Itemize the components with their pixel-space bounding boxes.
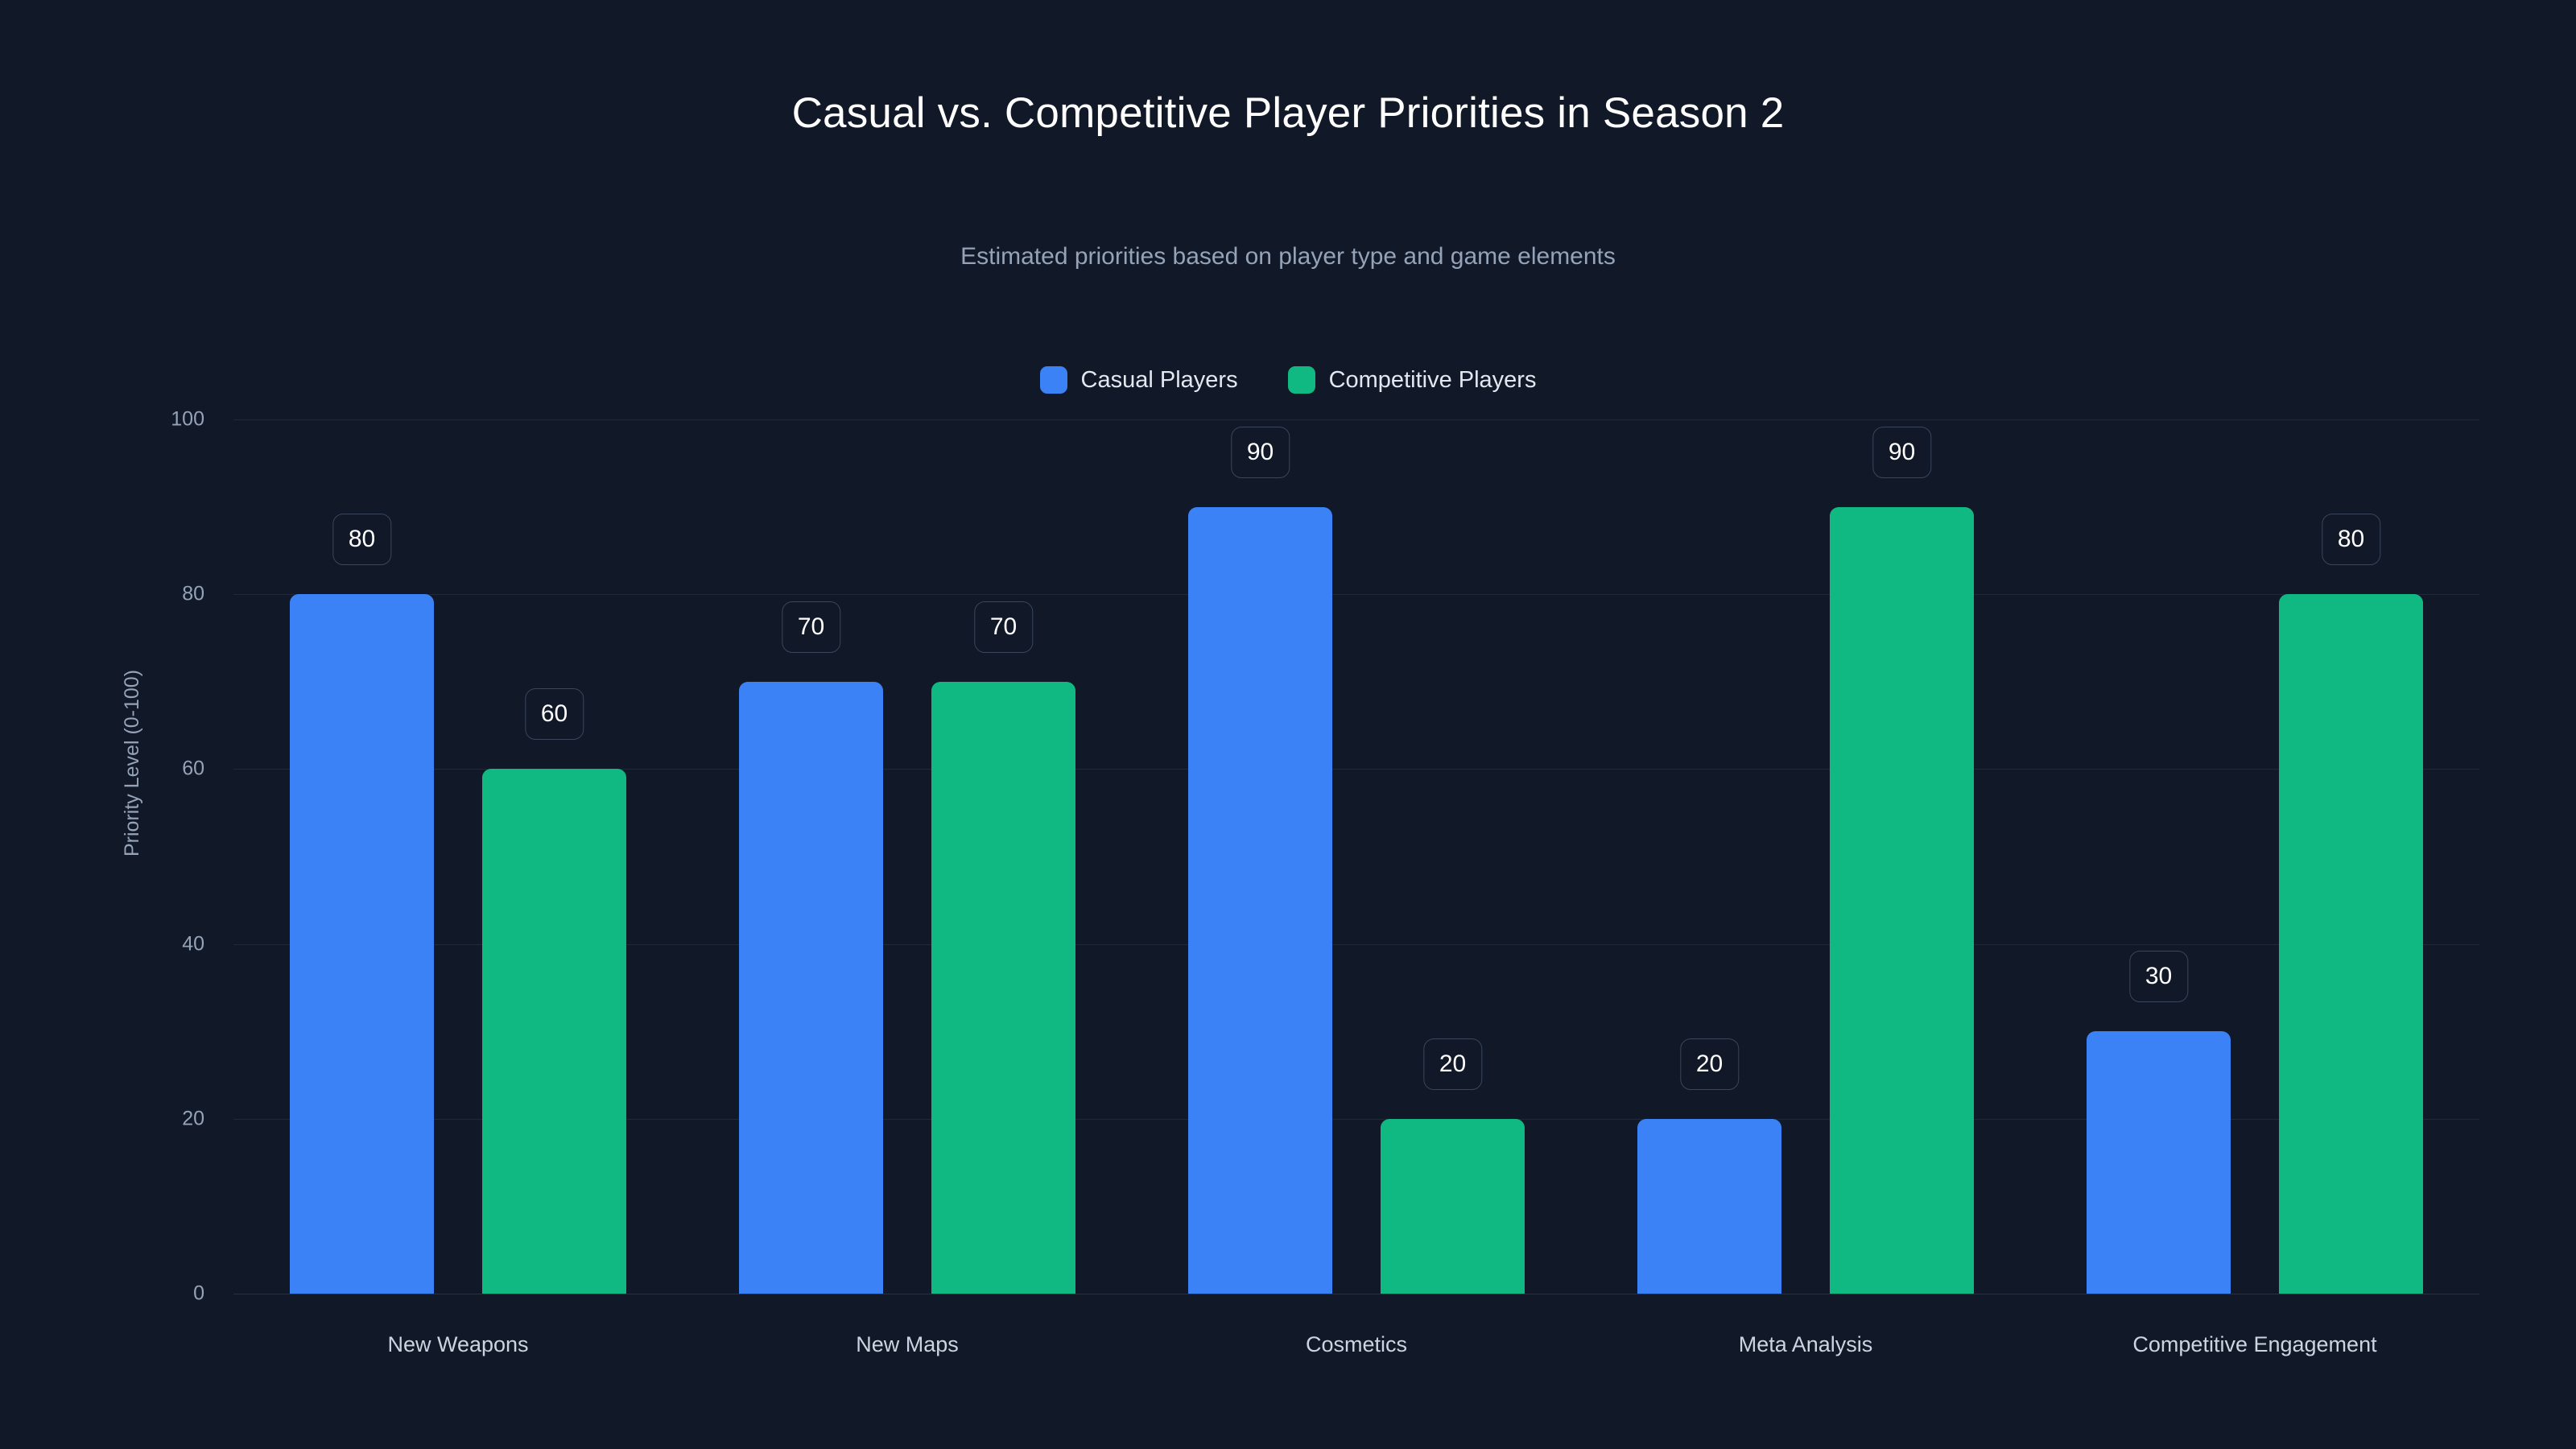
bar[interactable] bbox=[1637, 1119, 1781, 1294]
chart-title: Casual vs. Competitive Player Priorities… bbox=[0, 89, 2576, 138]
bar-value-label: 80 bbox=[2322, 514, 2380, 565]
bar[interactable] bbox=[931, 682, 1075, 1294]
plot-area bbox=[233, 419, 2479, 1294]
bar-value-label: 80 bbox=[332, 514, 391, 565]
bar-value-label: 60 bbox=[525, 688, 584, 740]
bar-value-label: 90 bbox=[1872, 427, 1931, 478]
bar[interactable] bbox=[1381, 1119, 1525, 1294]
x-axis-category-label: Cosmetics bbox=[1306, 1332, 1407, 1357]
bar-value-label: 70 bbox=[782, 601, 840, 653]
gridline bbox=[233, 1294, 2479, 1294]
bar[interactable] bbox=[739, 682, 883, 1294]
bar-value-label: 20 bbox=[1423, 1038, 1482, 1090]
bar[interactable] bbox=[290, 594, 434, 1294]
y-axis-tick-label: 60 bbox=[0, 758, 204, 781]
bar-value-label: 70 bbox=[974, 601, 1033, 653]
chart-legend: Casual PlayersCompetitive Players bbox=[0, 366, 2576, 394]
legend-item-label: Competitive Players bbox=[1329, 367, 1537, 394]
legend-item-label: Casual Players bbox=[1081, 367, 1238, 394]
x-axis-category-label: Meta Analysis bbox=[1739, 1332, 1873, 1357]
bar[interactable] bbox=[1188, 507, 1332, 1294]
bar-value-label: 20 bbox=[1680, 1038, 1739, 1090]
x-axis-category-label: New Maps bbox=[856, 1332, 959, 1357]
legend-swatch-blue-icon bbox=[1040, 366, 1067, 394]
bar-value-label: 30 bbox=[2129, 951, 2188, 1002]
bar[interactable] bbox=[482, 769, 626, 1294]
bar[interactable] bbox=[2087, 1031, 2231, 1294]
gridline bbox=[233, 419, 2479, 420]
y-axis-tick-label: 40 bbox=[0, 932, 204, 956]
bar[interactable] bbox=[1830, 507, 1974, 1294]
legend-item-casual-players[interactable]: Casual Players bbox=[1040, 366, 1238, 394]
gridline bbox=[233, 594, 2479, 595]
y-axis-tick-label: 80 bbox=[0, 583, 204, 606]
y-axis-tick-label: 20 bbox=[0, 1107, 204, 1130]
x-axis-category-label: Competitive Engagement bbox=[2132, 1332, 2376, 1357]
legend-item-competitive-players[interactable]: Competitive Players bbox=[1288, 366, 1537, 394]
y-axis-tick-label: 0 bbox=[0, 1282, 204, 1306]
y-axis-tick-label: 100 bbox=[0, 408, 204, 431]
legend-swatch-green-icon bbox=[1288, 366, 1315, 394]
x-axis-category-label: New Weapons bbox=[387, 1332, 528, 1357]
bar[interactable] bbox=[2279, 594, 2423, 1294]
bar-value-label: 90 bbox=[1231, 427, 1290, 478]
chart-subtitle: Estimated priorities based on player typ… bbox=[0, 243, 2576, 270]
